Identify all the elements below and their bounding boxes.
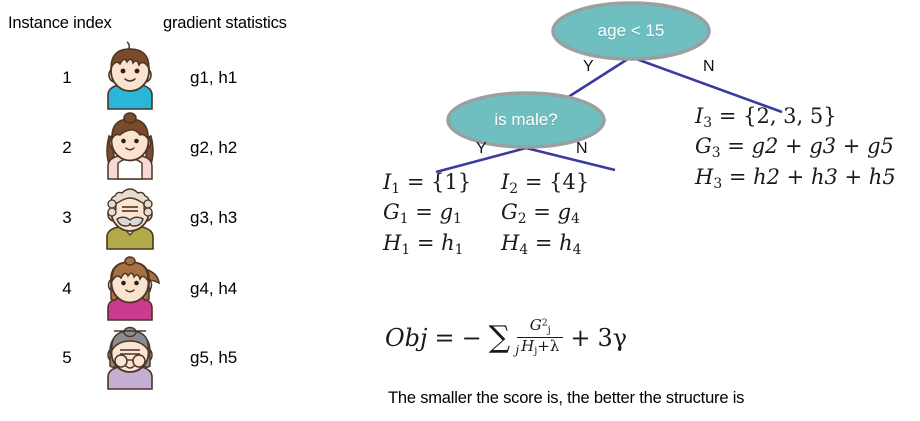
fraction-denominator: Hj+λ [517,337,563,357]
leaf-left-stats: I1 = {1} G1 = g1 H1 = h1 [383,168,471,259]
leaf-right-stats: I3 = {2, 3, 5} G3 = g2 + g3 + g5 H3 = h2… [695,102,896,193]
table-row: 5 [0,324,340,394]
summation-icon: ∑j [489,323,510,353]
leaf-left-set: I1 = {1} [383,168,471,198]
leaf-right-g: G3 = g2 + g3 + g5 [695,132,896,162]
row-gradient-stats: g3, h3 [190,208,237,228]
table-row: 2 g2, h2 [0,114,340,184]
grandmother-avatar [95,320,165,390]
tree-diagram-panel: age < 15 is male? Y N Y N I1 = {1} G1 = … [340,0,920,421]
leaf-middle-h: H4 = h4 [501,229,589,259]
row-gradient-stats: g4, h4 [190,279,237,299]
leaf-right-h: H3 = h2 + h3 + h5 [695,163,896,193]
objective-minus: − [462,324,482,352]
slide-canvas: Instance index gradient statistics 1 [0,0,920,421]
root-node-label[interactable]: age < 15 [553,21,709,41]
row-gradient-stats: g2, h2 [190,138,237,158]
leaf-middle-set: I2 = {4} [501,168,589,198]
leaf-middle-stats: I2 = {4} G2 = g4 H4 = h4 [501,168,589,259]
boy-avatar [95,40,165,110]
objective-plus: + [570,324,590,352]
column-header-gradient-statistics: gradient statistics [163,14,287,33]
leaf-right-g-terms: g2 + g3 + g5 [752,134,894,158]
leaf-right-h-terms: h2 + h3 + h5 [753,165,896,189]
row-index: 2 [55,138,79,158]
instance-table: Instance index gradient statistics 1 [0,0,340,421]
child-node-label[interactable]: is male? [448,110,604,130]
caption-text: The smaller the score is, the better the… [388,389,744,408]
table-row: 3 g3, h3 [0,184,340,254]
girl-avatar [95,110,165,180]
leaf-left-g: G1 = g1 [383,198,471,228]
grandfather-avatar [95,180,165,250]
column-header-instance-index: Instance index [8,14,112,33]
table-row: 4 g4, h4 [0,255,340,325]
row-index: 5 [55,348,79,368]
edge-label-child-no: N [576,140,588,158]
edge-label-root-no: N [703,58,715,76]
row-gradient-stats: g5, h5 [190,348,237,368]
leaf-middle-g: G2 = g4 [501,198,589,228]
objective-equals: = [434,324,454,352]
table-row: 1 g1, h1 [0,44,340,114]
edge-label-child-yes: Y [476,140,487,158]
objective-fraction: G2j Hj+λ [517,318,563,358]
objective-gamma-term: 3γ [597,324,627,352]
objective-lhs: Obj [385,324,427,352]
row-index: 4 [55,279,79,299]
row-index: 3 [55,208,79,228]
fraction-numerator: G2j [526,318,555,337]
edge-label-root-yes: Y [583,58,594,76]
leaf-left-h: H1 = h1 [383,229,471,259]
young-woman-avatar [95,251,165,321]
leaf-right-set: I3 = {2, 3, 5} [695,102,896,132]
objective-formula: Obj = − ∑j G2j Hj+λ + 3γ [385,318,627,358]
row-gradient-stats: g1, h1 [190,68,237,88]
row-index: 1 [55,68,79,88]
edge-child-no [526,148,615,170]
